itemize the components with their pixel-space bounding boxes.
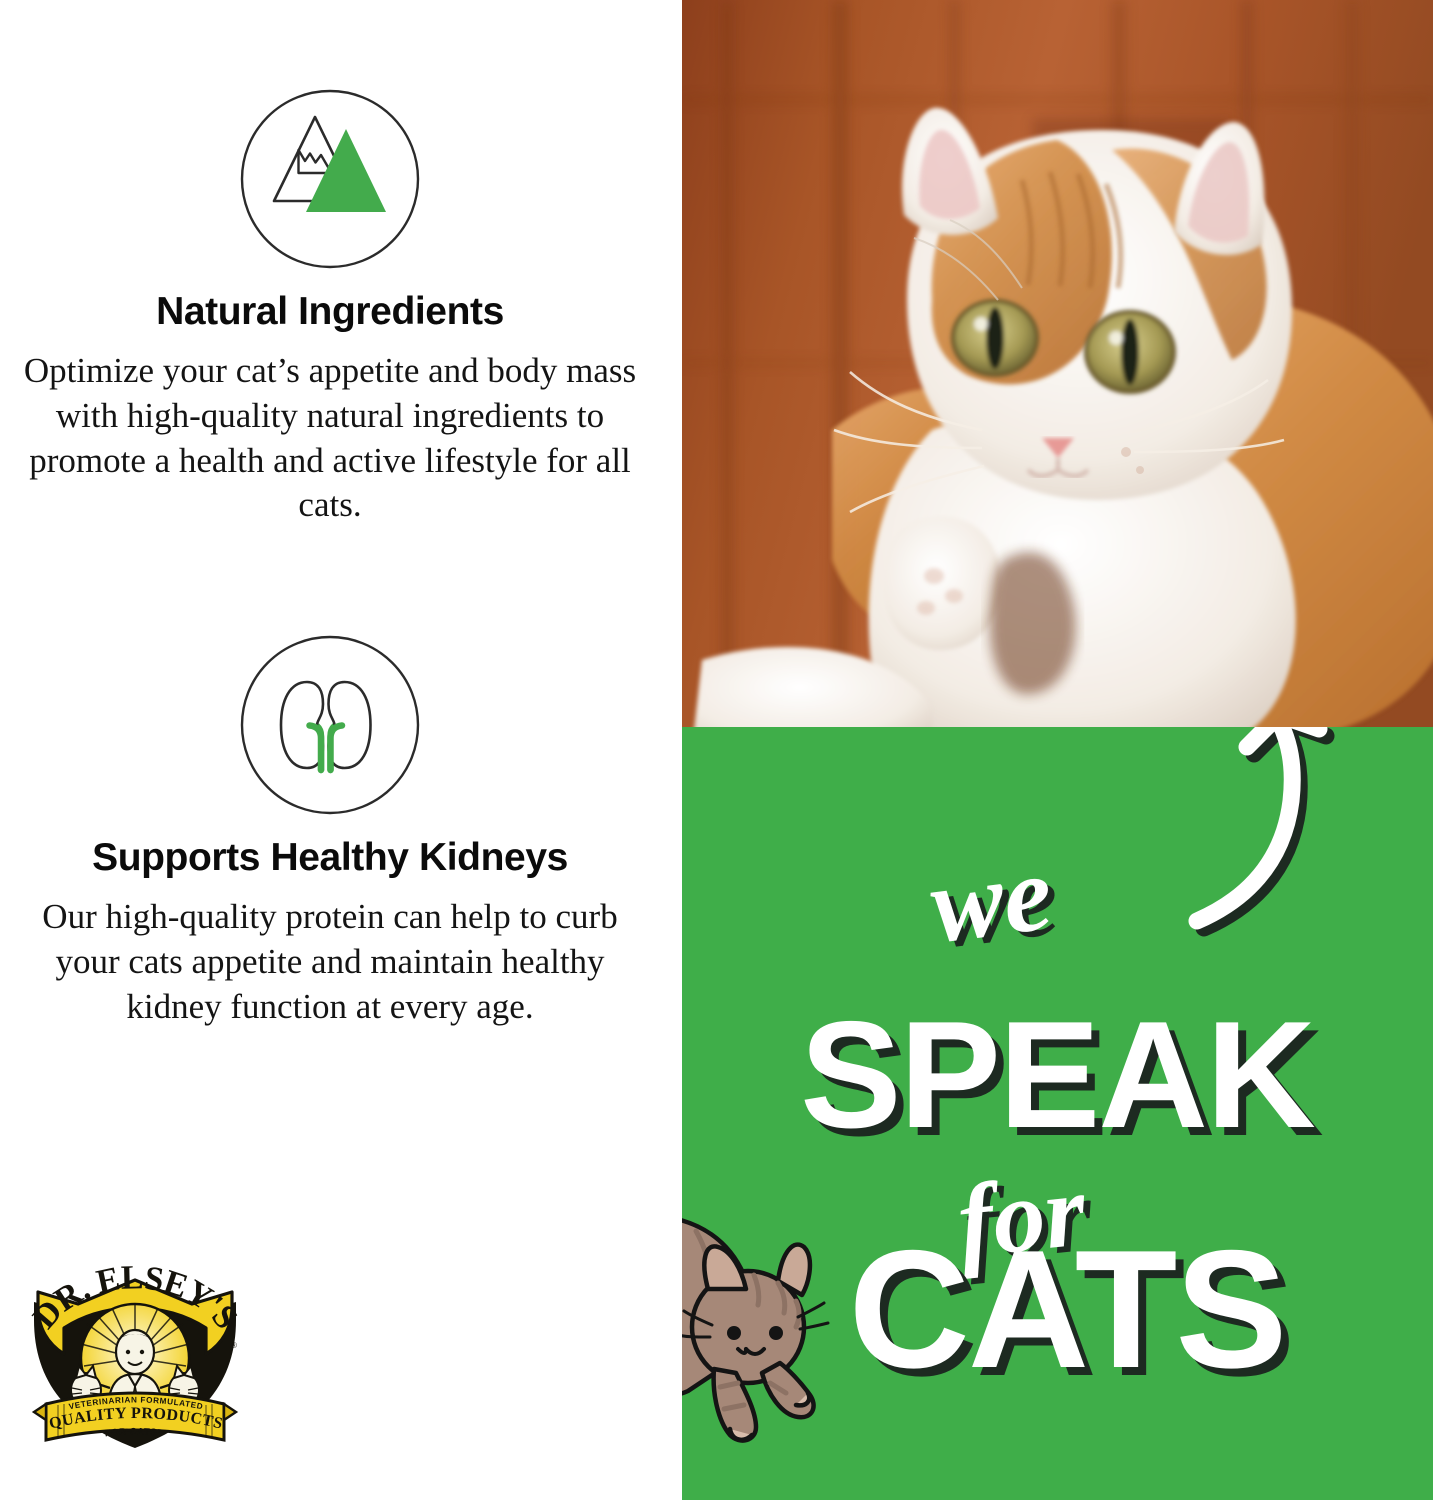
pouncing-cat-illustration: [682, 1177, 842, 1457]
registered-mark: ®: [231, 1341, 237, 1350]
brand-logo: VETERINARIAN FORMULATED QUALITY PRODUCTS…: [24, 1262, 246, 1460]
product-feature-panel: Natural Ingredients Optimize your cat’s …: [0, 0, 1433, 1500]
feature-natural-ingredients: Natural Ingredients Optimize your cat’s …: [0, 84, 660, 528]
feature-title: Supports Healthy Kidneys: [0, 838, 660, 879]
feature-healthy-kidneys: Supports Healthy Kidneys Our high-qualit…: [0, 630, 660, 1029]
svg-text:we: we: [924, 833, 1058, 966]
slogan-panel: we we SPEAK SPEAK for for CAT: [682, 727, 1433, 1500]
svg-text:for: for: [959, 1157, 1099, 1285]
slogan-line-speak: SPEAK SPEAK: [800, 990, 1323, 1168]
slogan-line-cats: CATS CATS: [849, 1215, 1294, 1411]
slogan-line-we: we we: [924, 833, 1064, 971]
mountain-icon: [235, 84, 425, 274]
svg-text:SPEAK: SPEAK: [800, 990, 1315, 1160]
svg-text:we: we: [931, 838, 1065, 971]
feature-title: Natural Ingredients: [0, 292, 660, 333]
curved-up-arrow-icon: [1179, 727, 1389, 939]
svg-text:CATS: CATS: [849, 1215, 1286, 1403]
svg-text:CATS: CATS: [857, 1223, 1294, 1411]
kidneys-icon: [235, 630, 425, 820]
slogan-line-for: for for: [952, 1152, 1099, 1285]
features-column: Natural Ingredients Optimize your cat’s …: [0, 0, 682, 1500]
svg-text:SPEAK: SPEAK: [808, 998, 1323, 1168]
hero-cat-photo: [682, 0, 1433, 727]
hero-column: we we SPEAK SPEAK for for CAT: [682, 0, 1433, 1500]
feature-description: Our high-quality protein can help to cur…: [0, 895, 660, 1029]
feature-description: Optimize your cat’s appetite and body ma…: [0, 349, 660, 528]
svg-text:for: for: [952, 1152, 1092, 1280]
